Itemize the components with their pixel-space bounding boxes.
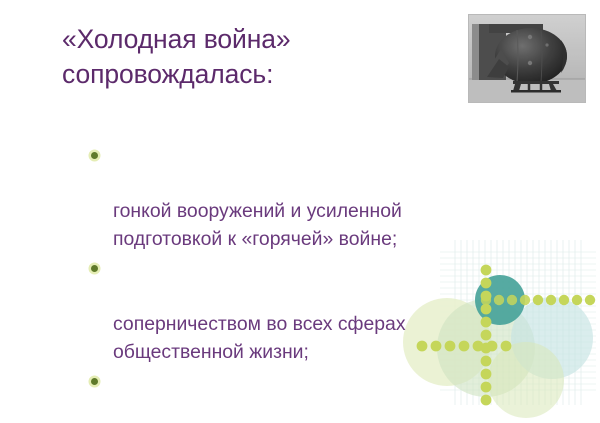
list-item-text: гонкой вооружений и усиленной подготовко… [113,200,402,250]
atomic-bomb-photo [468,14,586,103]
light-teal-circle [511,297,593,379]
list-item: соперничеством во всех сферах общественн… [84,255,504,367]
bullet-list: гонкой вооружений и усиленной подготовко… [84,142,504,423]
slide-canvas: «Холодная война» сопровождалась: гонкой … [0,0,600,423]
bullet-marker-icon [91,265,98,272]
bullet-marker-icon [91,378,98,385]
list-item-text: соперничеством во всех сферах общественн… [113,313,406,363]
slide-title: «Холодная война» сопровождалась: [62,22,452,92]
bullet-marker-icon [91,152,98,159]
list-item: острой идеологической борьбой и создание… [84,368,504,423]
list-item: гонкой вооружений и усиленной подготовко… [84,142,504,254]
